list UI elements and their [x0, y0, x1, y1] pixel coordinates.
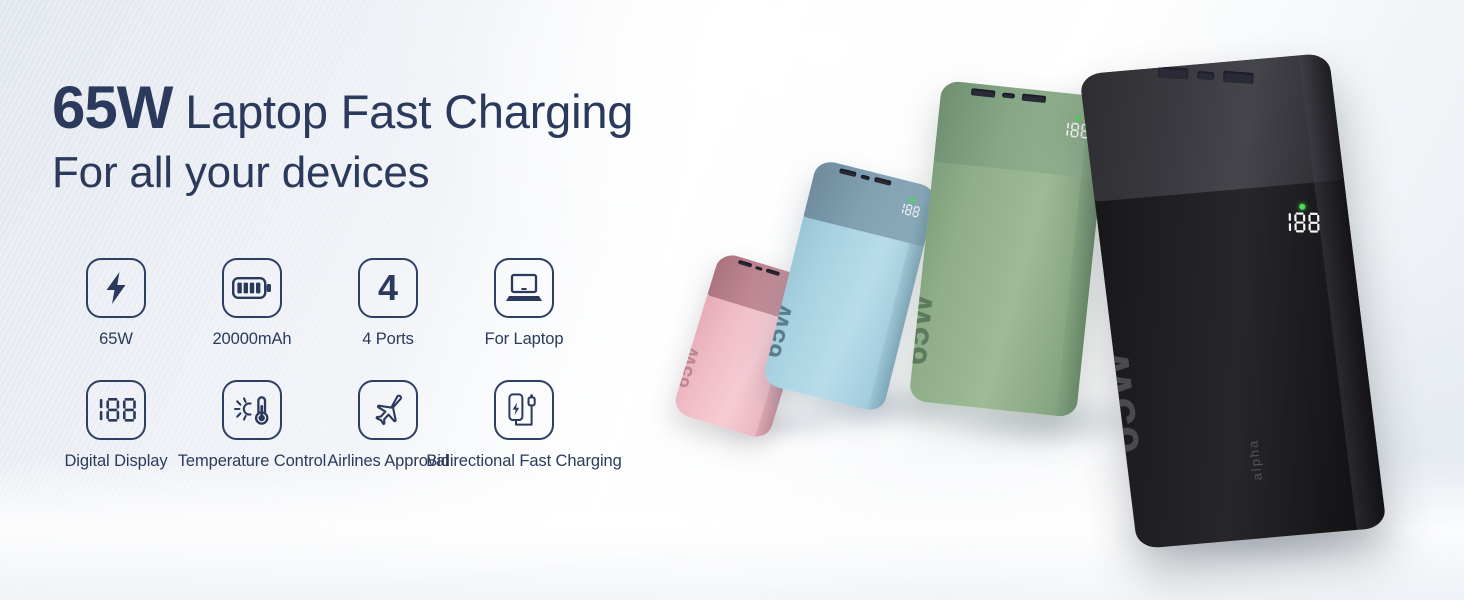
feature-row-2: Digital Display: [48, 380, 608, 472]
feature-laptop: For Laptop: [456, 258, 592, 350]
headline-block: 65W Laptop Fast Charging For all your de…: [52, 78, 633, 196]
headline-wattage: 65W: [52, 74, 172, 141]
charging-led-icon: [1299, 204, 1305, 210]
laptop-icon: [494, 258, 554, 318]
device-brand-logo: alpha: [1245, 438, 1265, 481]
display-value: [1280, 211, 1325, 234]
airplane-icon: [358, 380, 418, 440]
charging-led-icon: [1076, 116, 1080, 120]
feature-temperature: Temperature Control: [184, 380, 320, 472]
product-banner: 65W Laptop Fast Charging For all your de…: [0, 0, 1464, 600]
feature-bidirectional: Bidirectional Fast Charging: [456, 380, 592, 472]
bidirectional-charging-icon: [494, 380, 554, 440]
device-display: [1280, 203, 1325, 234]
page-title: 65W Laptop Fast Charging: [52, 78, 633, 138]
feature-label: For Laptop: [485, 329, 564, 350]
number-four-icon: 4: [358, 258, 418, 318]
ports-count-value: 4: [378, 270, 398, 306]
feature-label: Bidirectional Fast Charging: [426, 451, 621, 472]
feature-digital-display: Digital Display: [48, 380, 184, 472]
power-bank-black[interactable]: 65W alpha: [1079, 53, 1386, 549]
lightning-bolt-icon: [86, 258, 146, 318]
feature-grid: 65W 20000mAh 4: [48, 258, 608, 471]
digital-display-icon: [86, 380, 146, 440]
headline-rest: Laptop Fast Charging: [172, 85, 633, 138]
subheadline: For all your devices: [52, 150, 633, 196]
feature-label: 4 Ports: [362, 329, 414, 350]
feature-capacity: 20000mAh: [184, 258, 320, 350]
feature-65w: 65W: [48, 258, 184, 350]
feature-row-1: 65W 20000mAh 4: [48, 258, 608, 350]
feature-label: Temperature Control: [178, 451, 327, 472]
feature-label: Digital Display: [64, 451, 167, 472]
feature-ports: 4 4 Ports: [320, 258, 456, 350]
device-watt-label: 65W: [909, 292, 942, 367]
battery-full-icon: [222, 258, 282, 318]
charging-led-icon: [910, 198, 915, 203]
feature-label: 20000mAh: [212, 329, 291, 350]
feature-label: 65W: [99, 329, 133, 350]
device-watt-label: 65W: [672, 343, 705, 390]
thermometer-sun-icon: [222, 380, 282, 440]
device-sidewall: [1299, 53, 1387, 530]
power-bank-green[interactable]: 65W: [909, 80, 1110, 418]
